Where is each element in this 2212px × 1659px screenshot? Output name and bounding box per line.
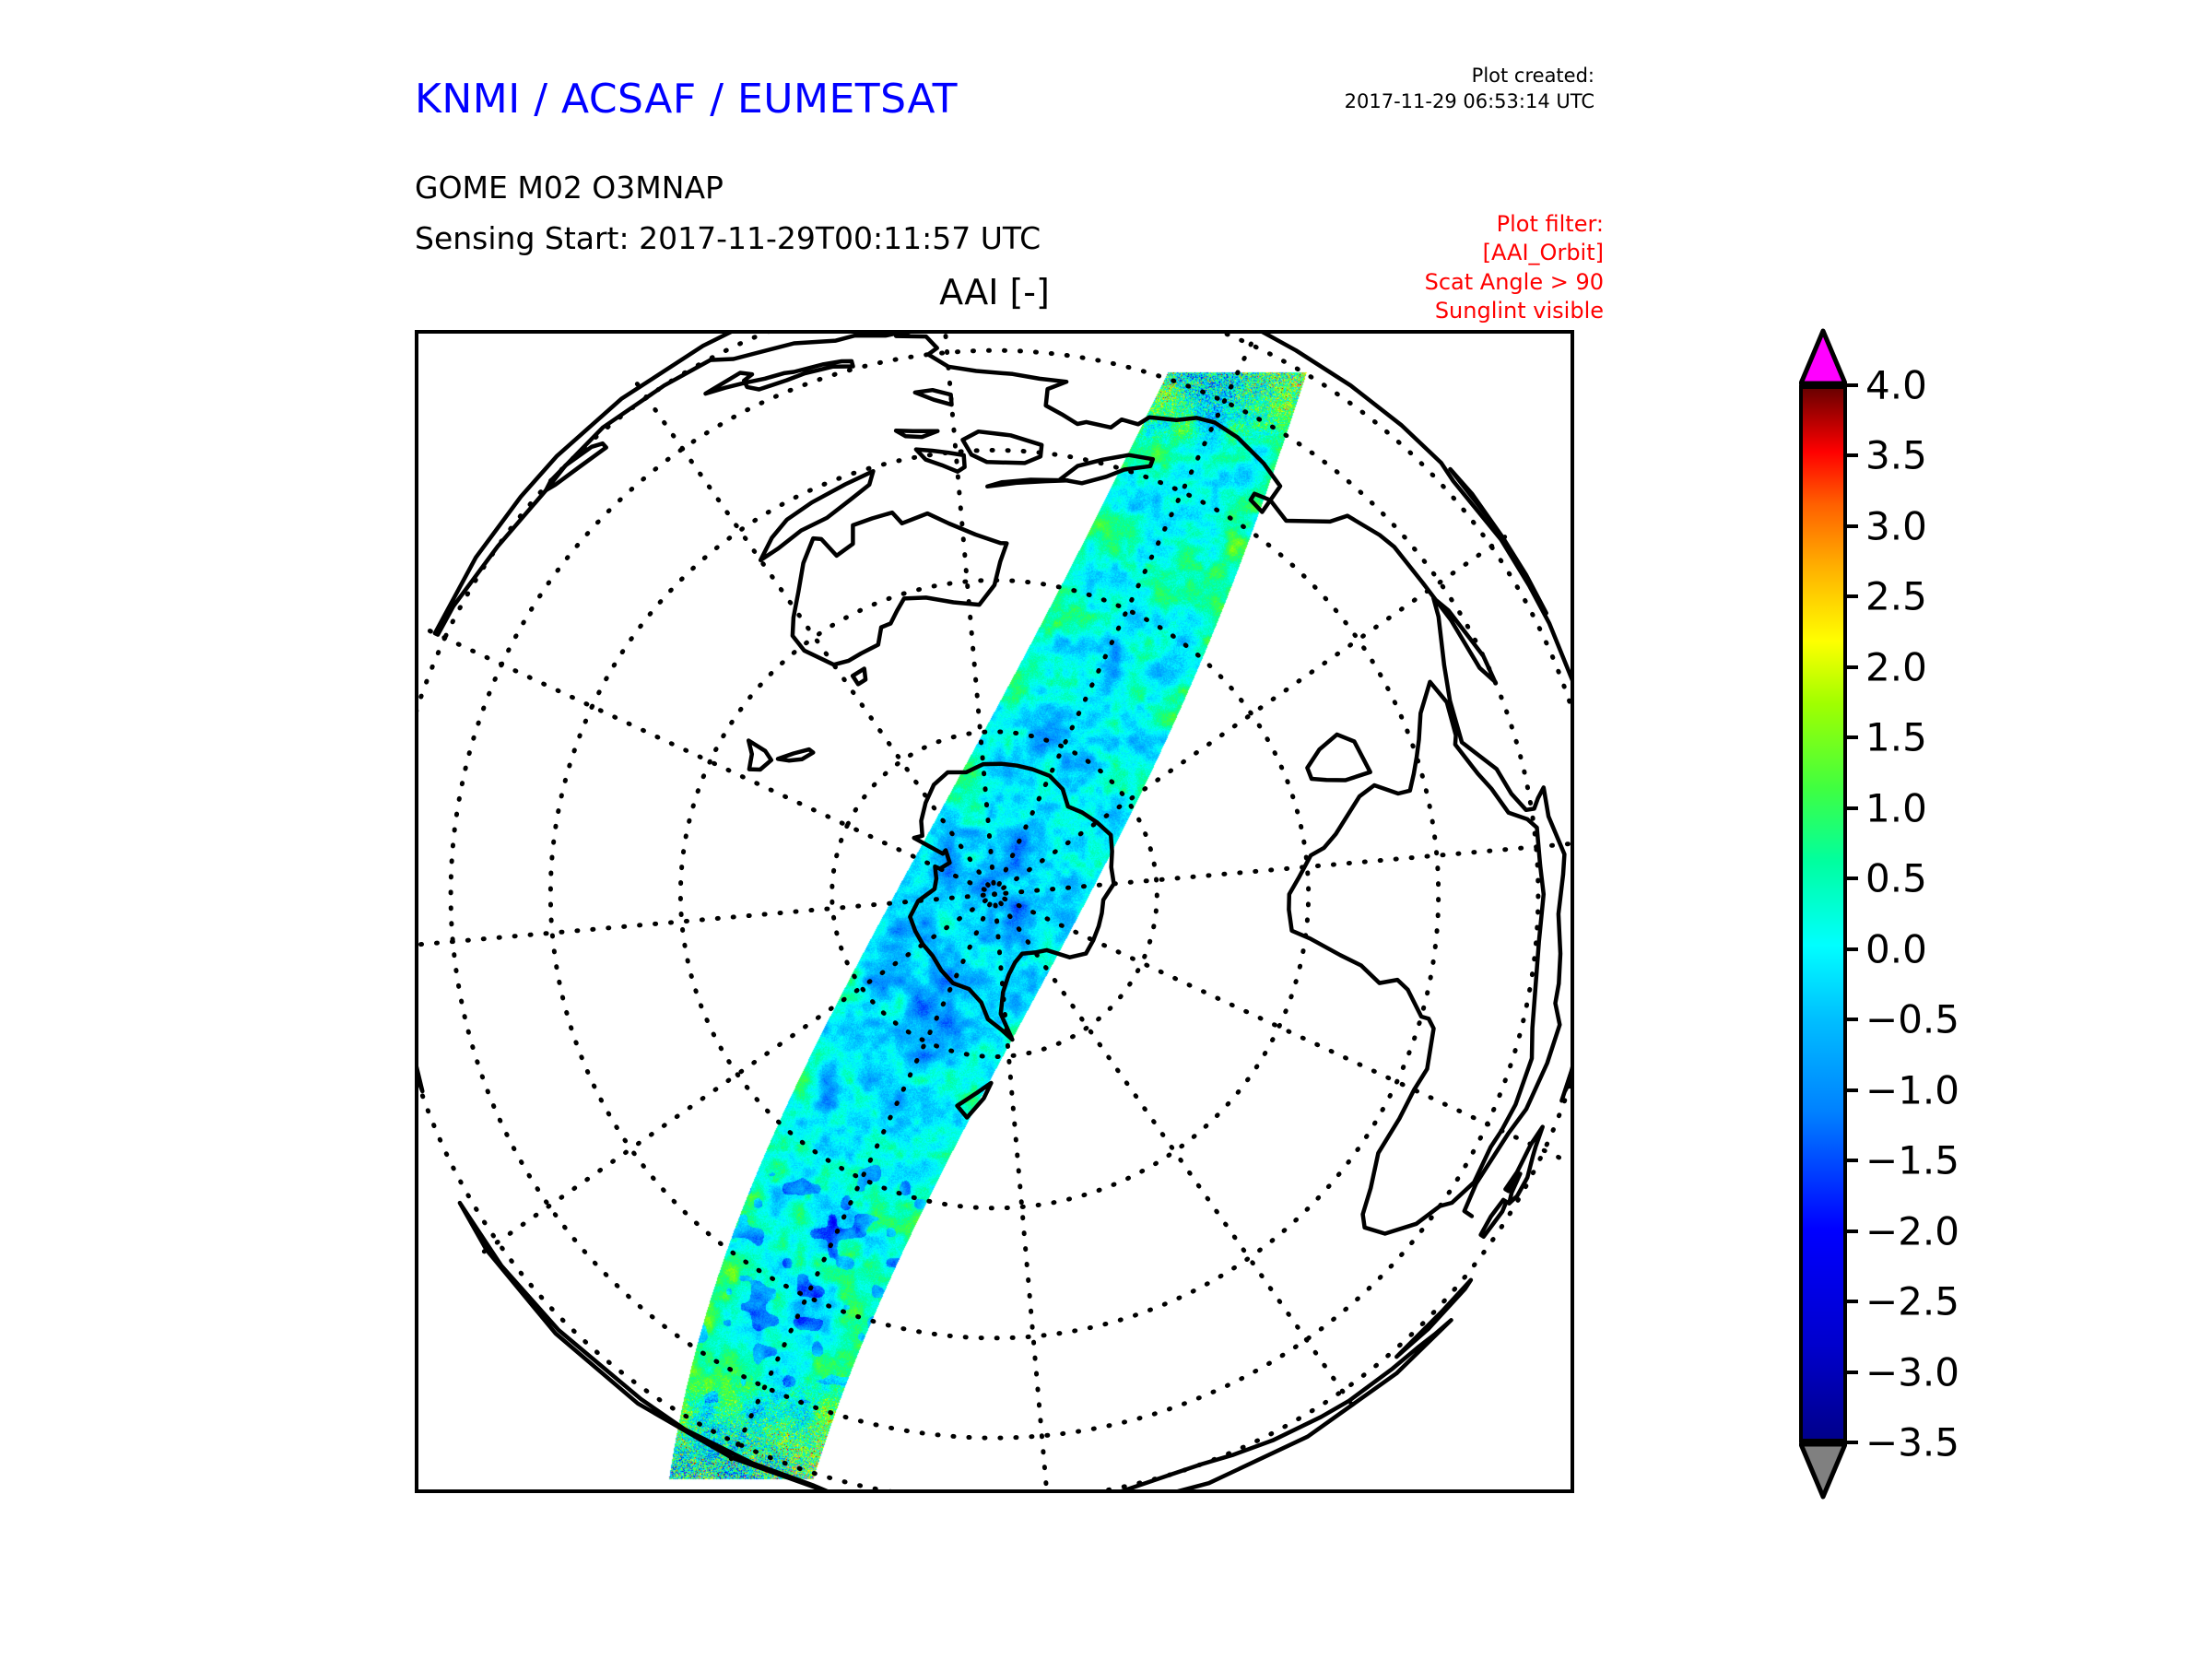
coastline-philippines (915, 390, 952, 405)
colorbar-tick-label: −3.5 (1865, 1420, 1959, 1465)
colorbar-tick-label: −1.0 (1865, 1067, 1959, 1112)
colorbar-tick-mark (1843, 1300, 1858, 1303)
colorbar-tick-mark (1843, 1159, 1858, 1162)
colorbar-tick-label: −3.0 (1865, 1349, 1959, 1394)
coastline-group (418, 334, 1571, 1489)
colorbar-tick-mark (1843, 453, 1858, 457)
colorbar-tick-mark (1843, 877, 1858, 880)
coastline-tasmania (853, 669, 865, 685)
map-vector-layer (418, 334, 1571, 1489)
plot-filter-line-1: [AAI_Orbit] (1318, 239, 1604, 267)
plot-filter-line-0: Plot filter: (1318, 210, 1604, 239)
south-pole-marker (992, 891, 997, 897)
colorbar-tick-label: −0.5 (1865, 997, 1959, 1042)
colorbar-gradient (1799, 385, 1847, 1442)
coastline-greenland (940, 1320, 1451, 1489)
plot-created-block: Plot created: 2017-11-29 06:53:14 UTC (1327, 63, 1594, 115)
graticule-group (418, 334, 1571, 1489)
colorbar-tick-label: 3.0 (1865, 503, 1927, 548)
plot-created-label: Plot created: (1327, 63, 1594, 88)
colorbar-under-arrow (1799, 1442, 1847, 1500)
coastline-india_sl (1251, 494, 1270, 512)
colorbar-tick-mark (1843, 1088, 1858, 1092)
coastline-kamchatka (546, 443, 606, 490)
coastline-uk (1505, 1127, 1542, 1204)
colorbar-tick-label: 2.0 (1865, 644, 1927, 689)
coastline-alaska (418, 777, 422, 1091)
axes-title: AAI [-] (415, 272, 1574, 312)
coastline-newguinea (760, 471, 873, 560)
colorbar-tick-label: 0.5 (1865, 856, 1927, 901)
colorbar-tick-mark (1843, 735, 1858, 739)
dataset-label: GOME M02 O3MNAP (415, 170, 724, 206)
coastline-antarctica (910, 764, 1113, 1040)
colorbar-tick-label: 0.0 (1865, 926, 1927, 971)
graticule-meridian (999, 334, 1260, 884)
colorbar-tick-mark (1843, 665, 1858, 669)
colorbar-tick-mark (1843, 1230, 1858, 1233)
colorbar-tick-label: −2.0 (1865, 1208, 1959, 1253)
coastline-africa (1288, 682, 1543, 1234)
coastline-iceland (1396, 1280, 1471, 1357)
coastline-borneo (963, 431, 1042, 463)
coastline-novaya (1451, 469, 1547, 613)
coastline-newzealand_n (748, 741, 771, 771)
map-plot-area (415, 330, 1574, 1493)
colorbar-tick-mark (1843, 806, 1858, 810)
coastline-canada_n (460, 1203, 834, 1489)
coastline-japan (706, 361, 853, 394)
colorbar: 4.03.53.02.52.01.51.00.50.0−0.5−1.0−1.5−… (1788, 328, 2175, 1499)
colorbar-tick-mark (1843, 524, 1858, 528)
graticule-parallel (418, 334, 1571, 1489)
coastline-java (987, 480, 1067, 487)
colorbar-tick-mark (1843, 383, 1858, 387)
colorbar-tick-label: −1.5 (1865, 1138, 1959, 1183)
coastline-southamerica_tip (958, 1083, 992, 1118)
colorbar-tick-mark (1843, 947, 1858, 951)
colorbar-tick-mark (1843, 1018, 1858, 1021)
colorbar-tick-mark (1843, 1441, 1858, 1444)
graticule-meridian (418, 895, 983, 948)
colorbar-tick-label: 3.5 (1865, 433, 1927, 478)
colorbar-over-arrow (1799, 328, 1847, 385)
colorbar-tick-label: 4.0 (1865, 363, 1927, 408)
colorbar-tick-label: 2.5 (1865, 574, 1927, 619)
coastline-madagascar (1307, 735, 1370, 781)
colorbar-tick-label: 1.5 (1865, 715, 1927, 760)
coastline-australia (793, 512, 1006, 665)
plot-created-timestamp: 2017-11-29 06:53:14 UTC (1327, 88, 1594, 114)
coastline-mindanao (896, 430, 937, 437)
graticule-meridian (1006, 840, 1571, 893)
colorbar-tick-label: −2.5 (1865, 1279, 1959, 1324)
coastline-newzealand_s (778, 749, 813, 760)
sensing-start-label: Sensing Start: 2017-11-29T00:11:57 UTC (415, 220, 1041, 256)
graticule-meridian (426, 629, 984, 889)
colorbar-tick-label: 1.0 (1865, 785, 1927, 830)
coastline-ireland (1481, 1200, 1507, 1237)
coastline-sumatra (1060, 455, 1153, 484)
colorbar-tick-mark (1843, 1371, 1858, 1374)
colorbar-tick-mark (1843, 594, 1858, 598)
graticule-meridian (729, 904, 990, 1464)
organization-title: KNMI / ACSAF / EUMETSAT (415, 76, 958, 123)
graticule-meridian (940, 334, 994, 883)
